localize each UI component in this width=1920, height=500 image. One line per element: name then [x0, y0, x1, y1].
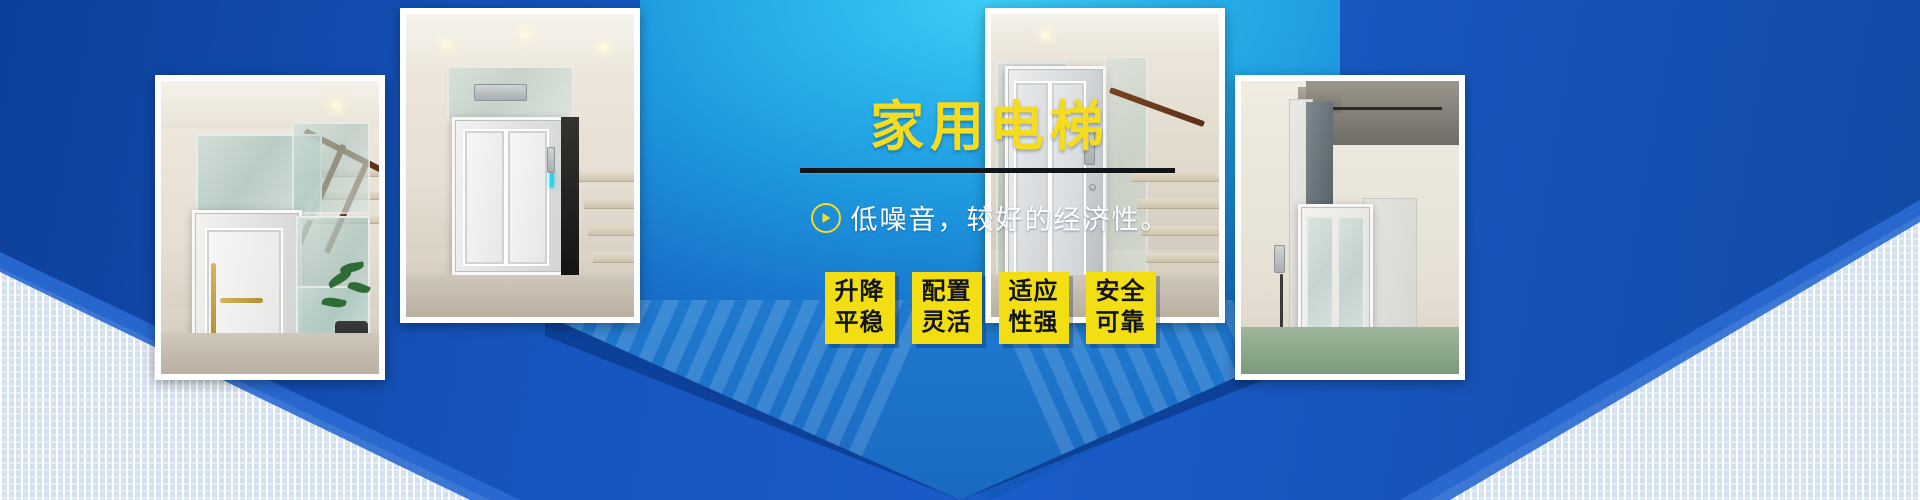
title-divider [800, 168, 1175, 173]
center-content: 家用电梯 低噪音，较好的经济性。 升降 平稳 配置 灵活 适应 性强 [640, 0, 1340, 500]
home-elevator-banner: 家用电梯 低噪音，较好的经济性。 升降 平稳 配置 灵活 适应 性强 [0, 0, 1920, 500]
feature-badge: 配置 灵活 [912, 272, 982, 344]
page-subtitle: 低噪音，较好的经济性。 [851, 198, 1170, 237]
feature-badge-line1: 安全 [1096, 277, 1146, 308]
feature-badge-line1: 配置 [922, 277, 972, 308]
feature-badge: 安全 可靠 [1086, 272, 1156, 344]
photo-white-elevator-cabin-by-stairs [400, 8, 640, 323]
feature-badge-line2: 可靠 [1096, 308, 1146, 339]
page-title: 家用电梯 [640, 82, 1340, 161]
feature-badge-line1: 适应 [1009, 277, 1059, 308]
feature-badge-line2: 性强 [1009, 308, 1059, 339]
feature-badge: 适应 性强 [999, 272, 1069, 344]
feature-badge-line1: 升降 [835, 277, 885, 308]
feature-badge-line2: 平稳 [835, 308, 885, 339]
circle-play-arrow-icon [811, 203, 841, 233]
subtitle-row: 低噪音，较好的经济性。 [640, 198, 1340, 237]
photo-glass-home-elevator-with-plant [155, 75, 385, 380]
feature-badge: 升降 平稳 [825, 272, 895, 344]
feature-badge-list: 升降 平稳 配置 灵活 适应 性强 安全 可靠 [640, 272, 1340, 344]
feature-badge-line2: 灵活 [922, 308, 972, 339]
